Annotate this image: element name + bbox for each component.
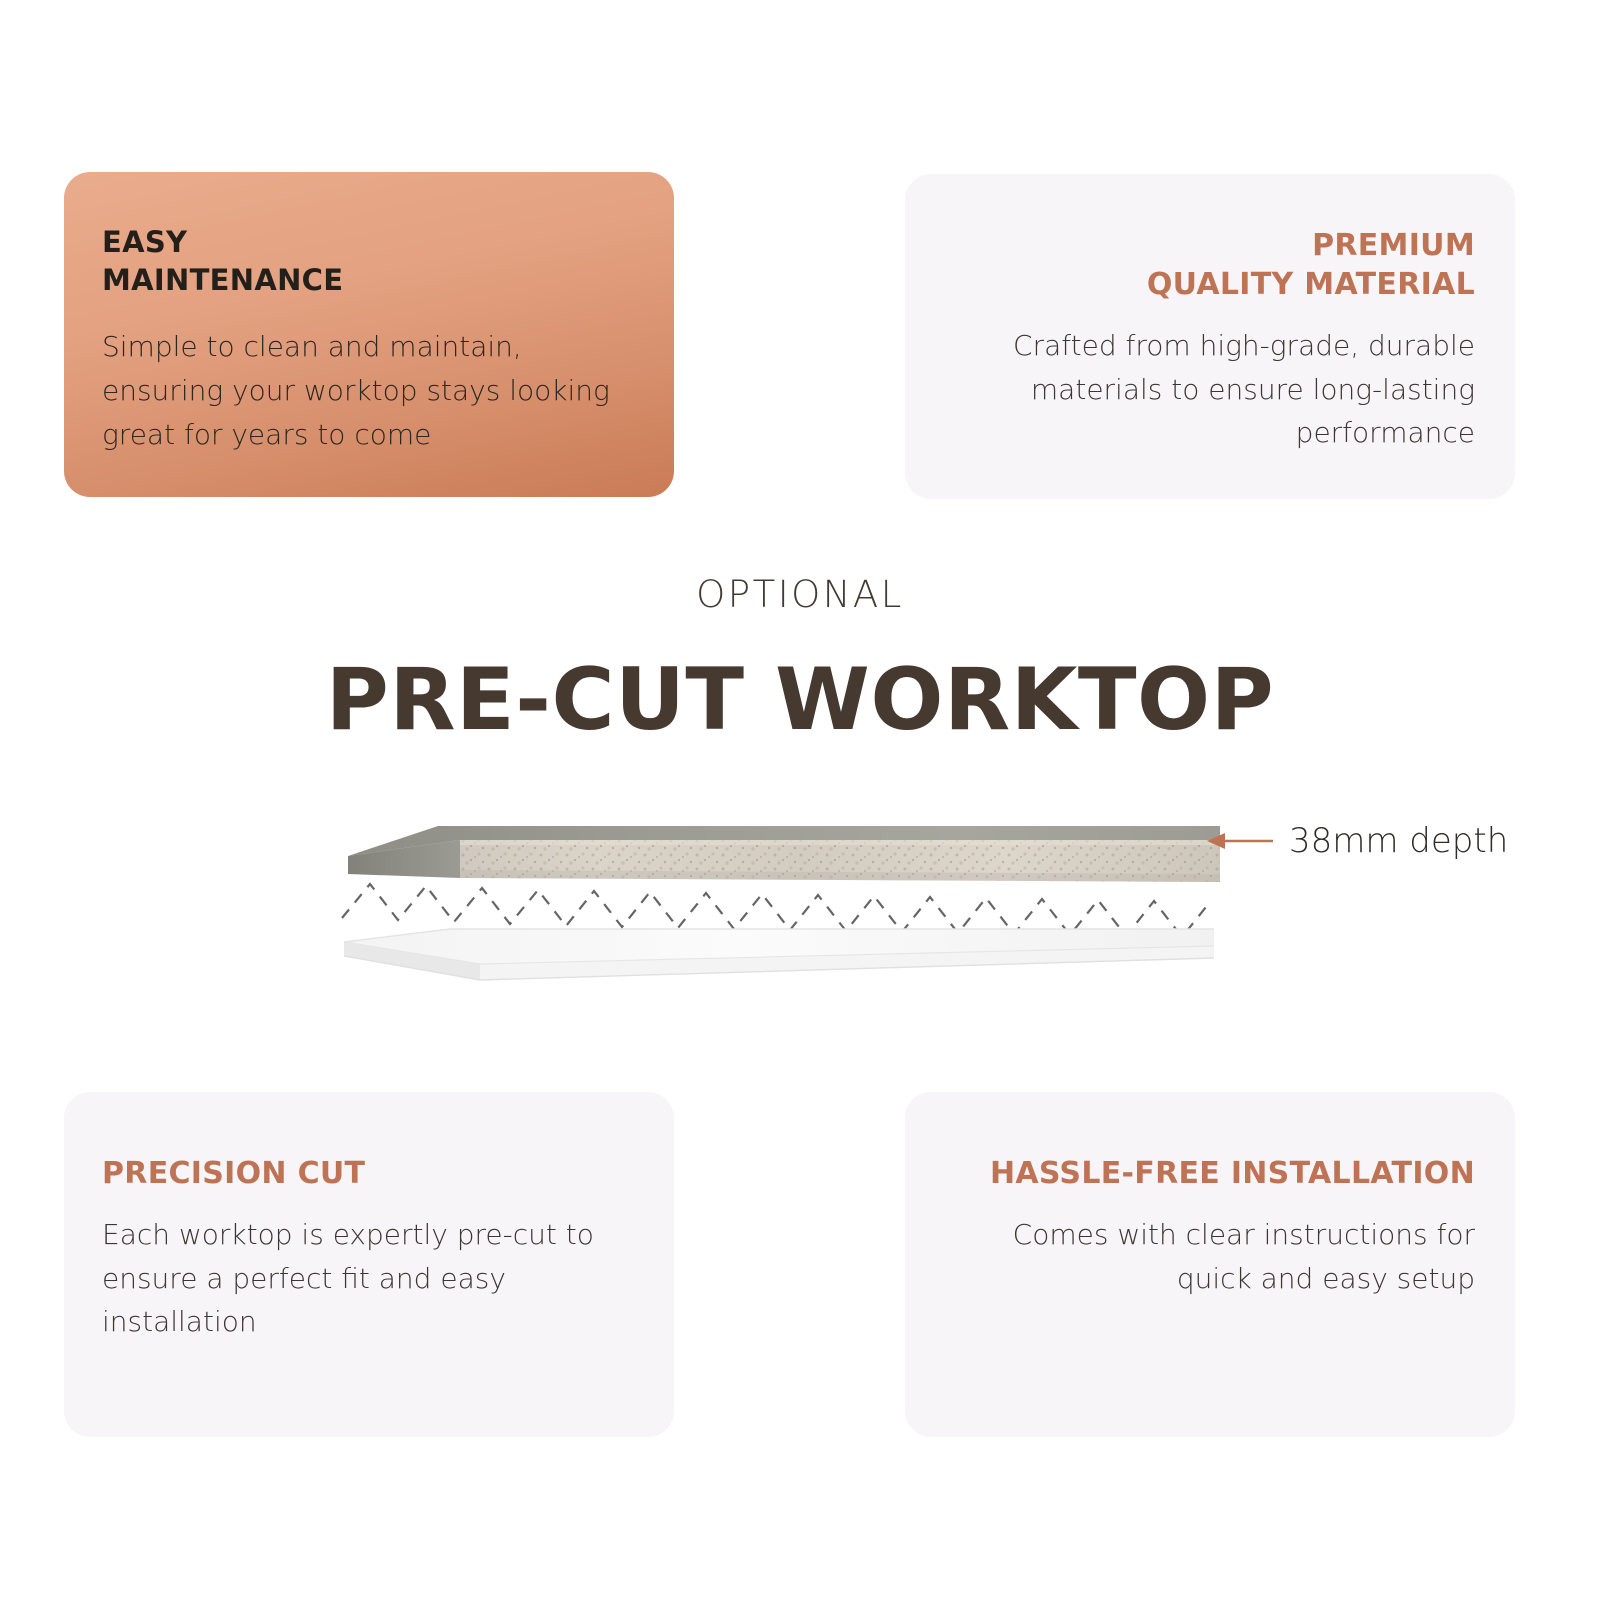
feature-card-hassle-free-installation: HASSLE-FREE INSTALLATION Comes with clea… xyxy=(905,1092,1515,1437)
feature-card-premium-quality: PREMIUM QUALITY MATERIAL Crafted from hi… xyxy=(905,174,1515,499)
card-body-premium-quality: Crafted from high-grade, durable materia… xyxy=(951,324,1475,455)
card-title-easy-maintenance: EASY MAINTENANCE xyxy=(102,224,628,299)
card-title-hassle-free-installation: HASSLE-FREE INSTALLATION xyxy=(951,1154,1475,1193)
card-title-precision-cut: PRECISION CUT xyxy=(102,1154,628,1193)
hero-eyebrow: OPTIONAL xyxy=(0,576,1600,613)
card-title-premium-quality: PREMIUM QUALITY MATERIAL xyxy=(951,226,1475,304)
card-body-easy-maintenance: Simple to clean and maintain, ensuring y… xyxy=(102,325,628,456)
depth-callout: 38mm depth xyxy=(1205,824,1508,858)
card-body-precision-cut: Each worktop is expertly pre-cut to ensu… xyxy=(102,1213,628,1344)
worktop-illustration xyxy=(330,796,1230,986)
feature-card-precision-cut: PRECISION CUT Each worktop is expertly p… xyxy=(64,1092,674,1437)
page-title: PRE-CUT WORKTOP xyxy=(0,657,1600,743)
card-body-hassle-free-installation: Comes with clear instructions for quick … xyxy=(951,1213,1475,1300)
depth-label: 38mm depth xyxy=(1289,824,1508,858)
arrow-left-icon xyxy=(1205,829,1275,853)
feature-card-easy-maintenance: EASY MAINTENANCE Simple to clean and mai… xyxy=(64,172,674,497)
white-base-panel xyxy=(344,929,1214,980)
infographic-canvas: EASY MAINTENANCE Simple to clean and mai… xyxy=(0,0,1600,1600)
stone-worktop-slab xyxy=(348,826,1220,882)
hero-heading-block: OPTIONAL PRE-CUT WORKTOP xyxy=(0,576,1600,743)
